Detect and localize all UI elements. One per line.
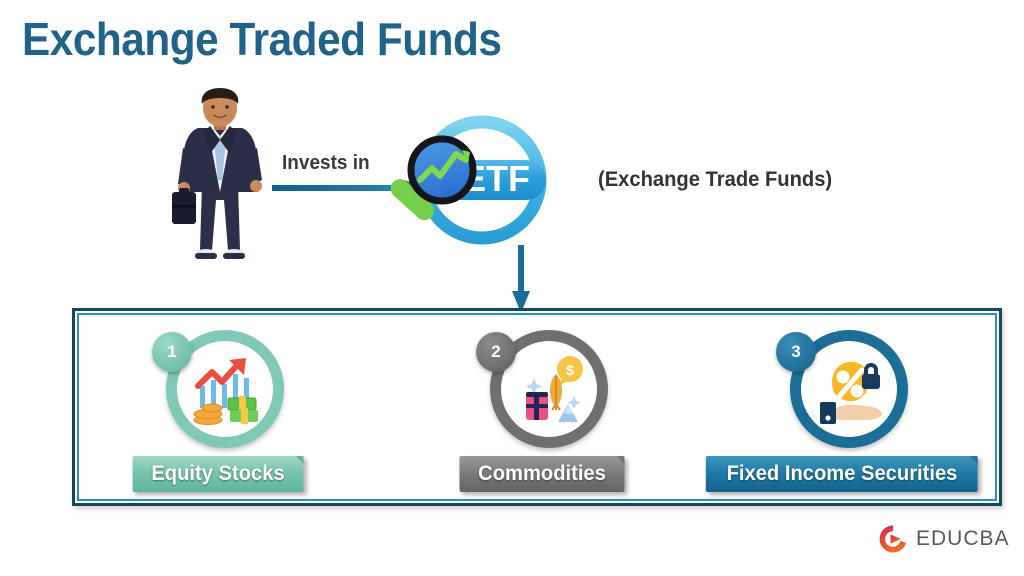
etf-caption: (Exchange Trade Funds) <box>598 168 832 192</box>
educba-logo-icon <box>878 524 908 554</box>
invests-in-label: Invests in <box>282 152 370 175</box>
card-label-bar: Equity Stocks <box>133 456 304 492</box>
card-label: Fixed Income Securities <box>727 462 958 486</box>
investor-group: Investor <box>150 88 290 303</box>
card-number-badge: 1 <box>152 332 192 372</box>
card-label: Commodities <box>478 462 606 486</box>
card-label-bar: Commodities <box>459 456 624 492</box>
card-label: Equity Stocks <box>151 462 284 486</box>
category-card-fixed-income[interactable]: 3 Fixed Income Securities <box>712 326 972 496</box>
percent-lock-hand-icon <box>812 352 888 428</box>
businessman-icon <box>150 88 290 268</box>
card-ring-wrap: 1 <box>152 326 284 458</box>
card-number-badge: 3 <box>776 332 816 372</box>
educba-logo-text: EDUCBA <box>916 527 1010 551</box>
category-card-commodities[interactable]: 2 $ <box>412 326 672 496</box>
slide-canvas: Exchange Traded Funds <box>0 0 1024 576</box>
oil-barrel-wheat-gold-icon: $ <box>512 352 588 428</box>
page-title: Exchange Traded Funds <box>22 12 501 66</box>
arrow-down-icon <box>512 245 530 313</box>
etf-ring-icon: ETF <box>380 108 590 258</box>
growth-chart-money-icon <box>188 352 264 428</box>
category-card-equity-stocks[interactable]: 1 <box>88 326 348 496</box>
svg-text:$: $ <box>566 362 574 378</box>
etf-badge-group: ETF <box>380 108 590 258</box>
card-ring-wrap: 3 <box>776 326 908 458</box>
educba-logo: EDUCBA <box>878 524 1010 554</box>
card-ring-wrap: 2 $ <box>476 326 608 458</box>
card-label-bar: Fixed Income Securities <box>706 456 978 492</box>
card-number-badge: 2 <box>476 332 516 372</box>
